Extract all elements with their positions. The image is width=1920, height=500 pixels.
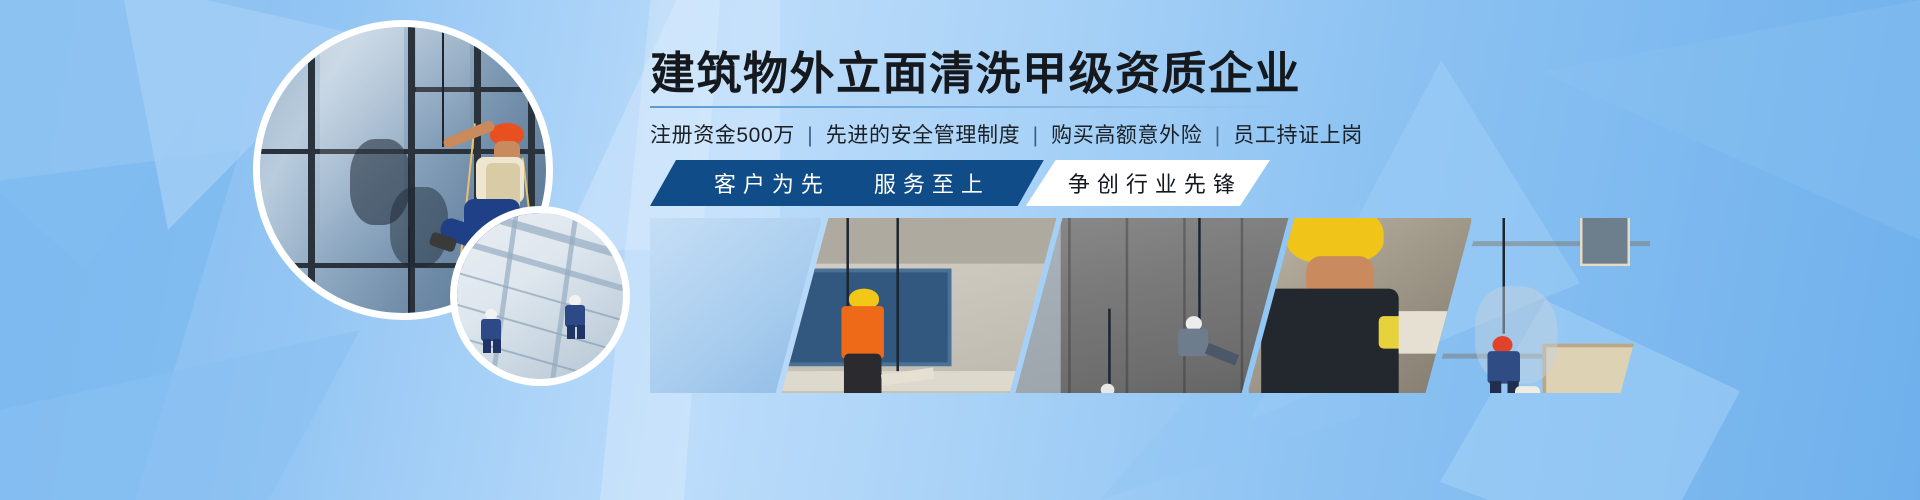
slogan-customer-first: 客户为先 bbox=[714, 167, 830, 199]
promotional-banner: 建筑物外立面清洗甲级资质企业 注册资金500万 | 先进的安全管理制度 | 购买… bbox=[0, 0, 1920, 500]
title-divider bbox=[650, 106, 1288, 108]
photo-strip bbox=[650, 218, 1650, 393]
slogan-ribbon: 客户为先 服务至上 争创行业先锋 bbox=[650, 160, 1270, 206]
background-facet-shape bbox=[0, 0, 290, 270]
subtitle-line: 注册资金500万 | 先进的安全管理制度 | 购买高额意外险 | 员工持证上岗 bbox=[650, 119, 1310, 149]
slogan-service-supreme: 服务至上 bbox=[874, 167, 990, 199]
subtitle-item-3: 购买高额意外险 bbox=[1051, 124, 1202, 147]
worker-figure bbox=[563, 295, 589, 339]
strip-photo-3 bbox=[1016, 218, 1289, 393]
subtitle-item-2: 先进的安全管理制度 bbox=[826, 124, 1020, 147]
ribbon-segment-blue: 客户为先 服务至上 bbox=[650, 160, 1044, 206]
strip-photo-2 bbox=[781, 218, 1056, 393]
background-facet-shape bbox=[0, 330, 360, 500]
headline-block: 建筑物外立面清洗甲级资质企业 注册资金500万 | 先进的安全管理制度 | 购买… bbox=[650, 50, 1310, 149]
background-facet-shape bbox=[0, 150, 240, 500]
slogan-industry-pioneer: 争创行业先锋 bbox=[1068, 167, 1242, 199]
circle-photo-facade-workers bbox=[450, 206, 630, 386]
subtitle-separator: | bbox=[807, 124, 813, 147]
subtitle-item-4: 员工持证上岗 bbox=[1233, 124, 1363, 147]
subtitle-separator: | bbox=[1215, 124, 1221, 147]
worker-figure bbox=[479, 309, 505, 353]
ribbon-segment-white: 争创行业先锋 bbox=[1026, 160, 1270, 206]
subtitle-item-1: 注册资金500万 bbox=[650, 124, 795, 147]
subtitle-separator: | bbox=[1033, 124, 1039, 147]
background-facet-shape bbox=[1540, 0, 1920, 240]
page-title: 建筑物外立面清洗甲级资质企业 bbox=[650, 50, 1310, 97]
